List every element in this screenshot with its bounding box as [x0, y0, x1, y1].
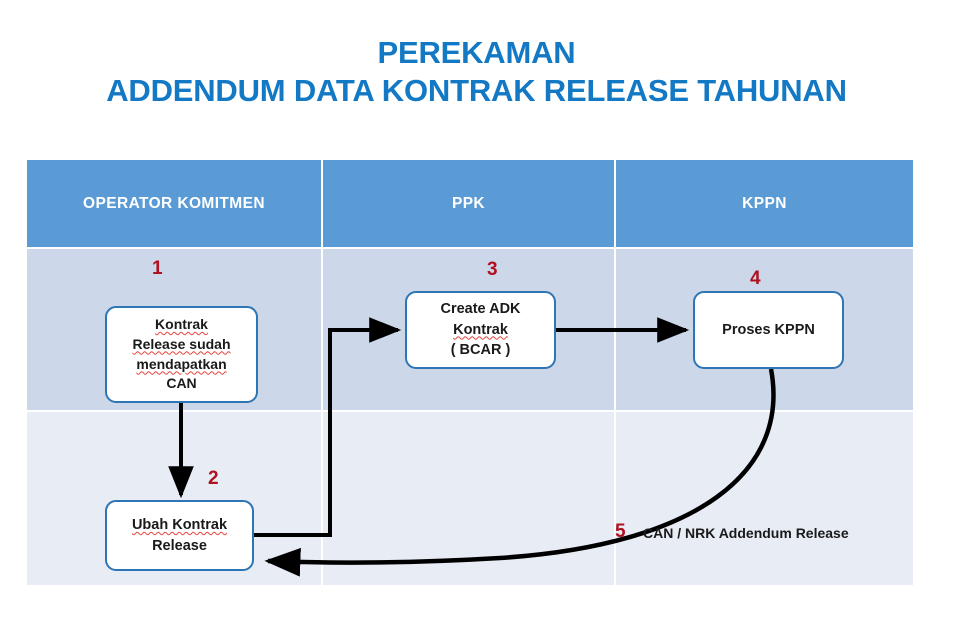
step-number-4: 4	[750, 268, 761, 290]
title-line-secondary: ADDENDUM DATA KONTRAK RELEASE TAHUNAN	[0, 72, 953, 110]
box2-line-1: Ubah Kontrak	[132, 515, 227, 536]
box1-line-2: Release sudah	[132, 335, 230, 355]
flow-label-can-nrk-addendum-release: CAN / NRK Addendum Release	[643, 525, 849, 541]
title-line-primary: PEREKAMAN	[0, 34, 953, 72]
step-number-3: 3	[487, 259, 498, 281]
box1-line-3: mendapatkan	[136, 355, 226, 375]
lane-header-kppn: KPPN	[616, 160, 913, 247]
lane-header-ppk: PPK	[323, 160, 616, 247]
box3-line-3: ( BCAR )	[451, 340, 511, 361]
step-number-5: 5	[615, 521, 626, 543]
lane-cell-ppk-bottom	[323, 412, 616, 585]
box3-line-1: Create ADK	[440, 299, 520, 320]
swimlane-header-row: OPERATOR KOMITMEN PPK KPPN	[27, 160, 913, 247]
process-box-kontrak-release-can[interactable]: Kontrak Release sudah mendapatkan CAN	[105, 306, 258, 403]
process-box-ubah-kontrak-release[interactable]: Ubah Kontrak Release	[105, 500, 254, 571]
process-box-proses-kppn[interactable]: Proses KPPN	[693, 291, 844, 369]
step-number-1: 1	[152, 258, 163, 280]
box2-line-2: Release	[152, 536, 207, 557]
box4-line-1: Proses KPPN	[722, 320, 815, 341]
box1-line-1: Kontrak	[155, 315, 208, 335]
lane-header-operator-komitmen: OPERATOR KOMITMEN	[27, 160, 323, 247]
box3-line-2: Kontrak	[453, 320, 508, 341]
step-number-2: 2	[208, 468, 219, 490]
box1-line-4: CAN	[166, 374, 196, 394]
page-title: PEREKAMAN ADDENDUM DATA KONTRAK RELEASE …	[0, 34, 953, 110]
process-box-create-adk-kontrak-bcar[interactable]: Create ADK Kontrak ( BCAR )	[405, 291, 556, 369]
lane-cell-kppn-bottom	[616, 412, 913, 585]
